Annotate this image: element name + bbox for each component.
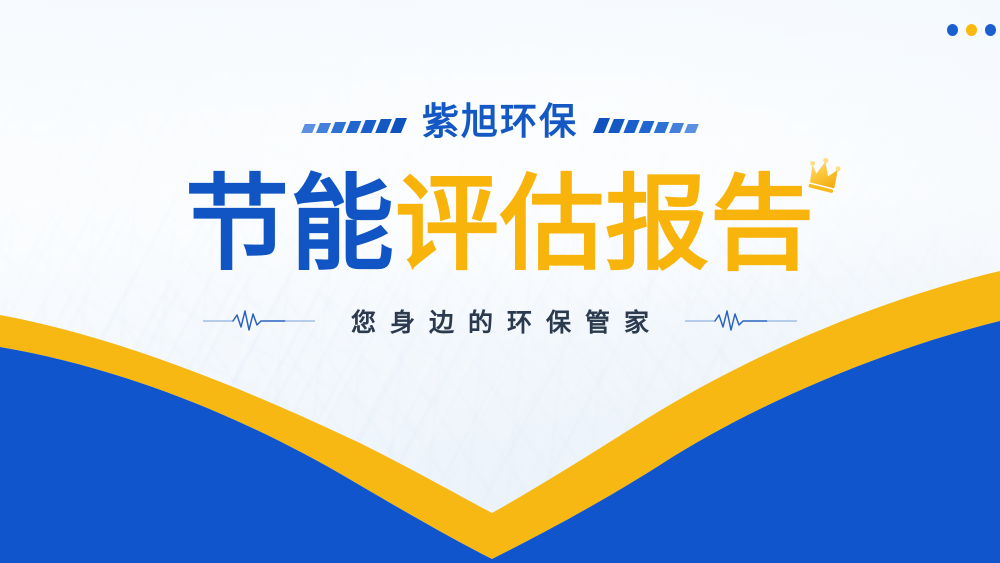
presentation-slide: 紫旭环保 节能评估报告 bbox=[0, 0, 1000, 563]
dot-gold bbox=[966, 24, 977, 36]
corner-dots bbox=[947, 24, 996, 36]
dot-blue-2 bbox=[985, 24, 996, 36]
dot-blue-1 bbox=[947, 24, 958, 36]
bottom-wave-group bbox=[0, 263, 1000, 563]
